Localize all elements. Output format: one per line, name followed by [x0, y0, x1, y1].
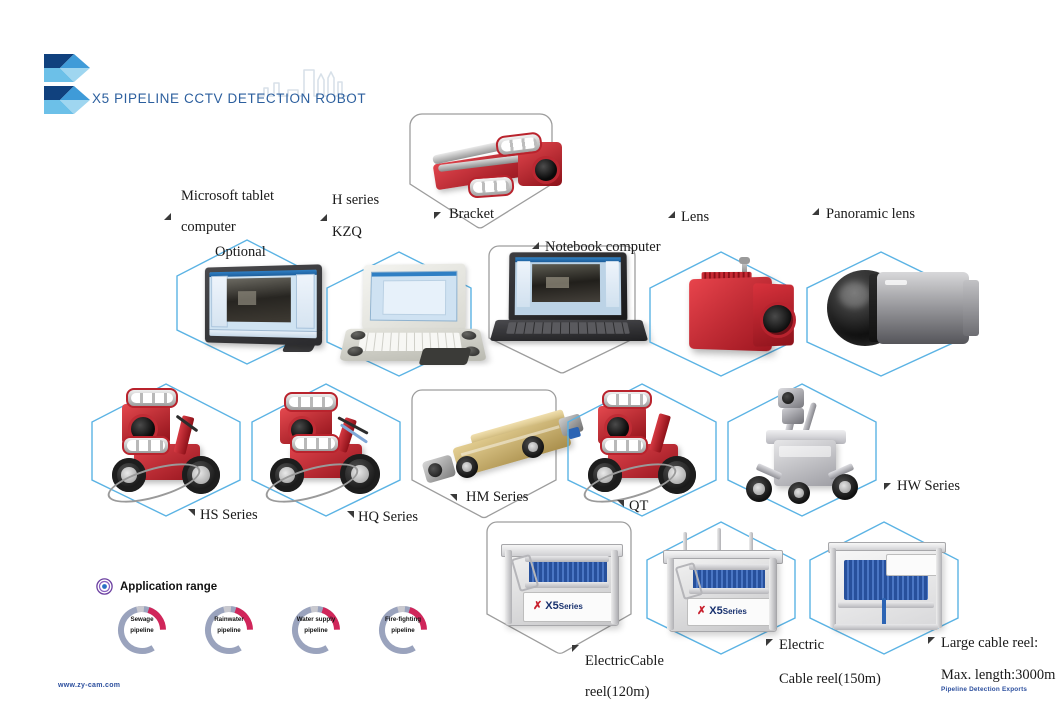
application-range-title: Application range — [120, 581, 217, 593]
marker-qt — [617, 500, 624, 507]
label-bracket: Bracket — [449, 203, 494, 225]
gauge-label-water-supply-line1: Water supply — [287, 614, 345, 625]
marker-large-reel — [928, 637, 935, 644]
hex-cell-large-cable-reel — [808, 520, 960, 656]
infographic-canvas: X5 PIPELINE CCTV DETECTION ROBOT Bracket — [0, 0, 1059, 723]
marker-hs-series — [188, 509, 195, 516]
reel-brand-x-mark: ✗ — [533, 600, 542, 612]
label-large-reel-line1: Large cable reel: — [941, 632, 1038, 654]
label-tablet-line2: computer — [181, 216, 236, 238]
reel-brand-x-mark-150: ✗ — [697, 605, 706, 617]
marker-hq-series — [347, 511, 354, 518]
gauge-water-supply: Water supply pipeline — [287, 603, 345, 655]
label-cable-reel-120-line2: reel(120m) — [585, 681, 649, 703]
label-hs-series: HS Series — [200, 504, 258, 526]
marker-lens — [668, 211, 675, 218]
label-lens: Lens — [681, 206, 709, 228]
marker-cable-reel-120 — [572, 645, 579, 652]
marker-tablet — [164, 213, 171, 220]
gauge-fire-fighting: Fire-fighting pipeline — [374, 603, 432, 655]
gauge-sewage: Sewage pipeline — [113, 603, 171, 655]
reel-brand-x5-150: X5 — [709, 605, 722, 617]
gauge-label-rainwater-line1: Rainwater — [200, 614, 258, 625]
label-h-series-line2: KZQ — [332, 221, 362, 243]
hex-cell-panoramic-lens — [805, 250, 957, 378]
application-range-header: Application range — [96, 578, 217, 595]
target-icon — [96, 578, 113, 595]
product-image-rugged-laptop — [325, 250, 473, 378]
product-image-cable-reel-150: ✗ X5Series — [645, 520, 797, 656]
marker-bracket — [434, 212, 441, 219]
hex-cell-h-series-kzq — [325, 250, 473, 378]
label-large-reel-line2: Max. length:3000m — [941, 664, 1055, 686]
label-notebook: Notebook computer — [545, 236, 661, 258]
x5-chevron-logo — [40, 52, 98, 120]
label-h-series-line1: H series — [332, 189, 379, 211]
marker-hw-series — [884, 483, 891, 490]
footer-tagline: Pipeline Detection Exports — [941, 686, 1027, 693]
gauge-label-sewage-line2: pipeline — [113, 625, 171, 636]
product-image-large-cable-reel — [808, 520, 960, 656]
product-image-hw-series — [726, 382, 878, 518]
product-image-lens — [648, 250, 794, 378]
marker-notebook — [532, 242, 539, 249]
gauge-label-fire-fighting-line2: pipeline — [374, 625, 432, 636]
gauge-label-sewage-line1: Sewage — [113, 614, 171, 625]
label-cable-reel-150-line2: Cable reel(150m) — [779, 668, 881, 690]
label-hq-series: HQ Series — [358, 506, 418, 528]
gauge-rainwater: Rainwater pipeline — [200, 603, 258, 655]
label-panoramic-lens: Panoramic lens — [826, 203, 915, 225]
label-optional: Optional — [215, 241, 266, 263]
label-hm-series: HM Series — [466, 486, 528, 508]
gauge-label-rainwater-line2: pipeline — [200, 625, 258, 636]
hex-cell-electric-cable-reel-150: ✗ X5Series — [645, 520, 797, 656]
reel-brand-x5: X5 — [545, 600, 558, 612]
hex-cell-lens — [648, 250, 794, 378]
application-range-gauges: Sewage pipeline Rainwater pipeline W — [103, 595, 463, 650]
product-image-hq-series — [250, 382, 402, 518]
marker-cable-reel-150 — [766, 639, 773, 646]
hex-cell-hq-series — [250, 382, 402, 518]
gauge-label-fire-fighting-line1: Fire-fighting — [374, 614, 432, 625]
marker-h-series — [320, 214, 327, 221]
reel-brand-series-150: Series — [723, 607, 747, 616]
footer-website-url[interactable]: www.zy-cam.com — [58, 682, 120, 689]
hex-cell-electric-cable-reel-120: ✗ X5Series — [485, 520, 635, 654]
hex-cell-hs-series — [90, 382, 242, 518]
label-tablet-line1: Microsoft tablet — [181, 185, 274, 207]
product-image-cable-reel-120: ✗ X5Series — [485, 520, 635, 654]
product-image-notebook — [487, 244, 637, 374]
label-qt: QT — [629, 495, 648, 517]
product-image-hs-series — [90, 382, 242, 518]
marker-panoramic-lens — [812, 208, 819, 215]
page-title: X5 PIPELINE CCTV DETECTION ROBOT — [92, 91, 366, 106]
product-image-panoramic-lens — [805, 250, 957, 378]
reel-brand-series: Series — [559, 602, 583, 611]
hex-cell-hw-series — [726, 382, 878, 518]
marker-hm-series — [450, 494, 457, 501]
label-hw-series: HW Series — [897, 475, 960, 497]
gauge-label-water-supply-line2: pipeline — [287, 625, 345, 636]
hex-cell-notebook — [487, 244, 637, 374]
